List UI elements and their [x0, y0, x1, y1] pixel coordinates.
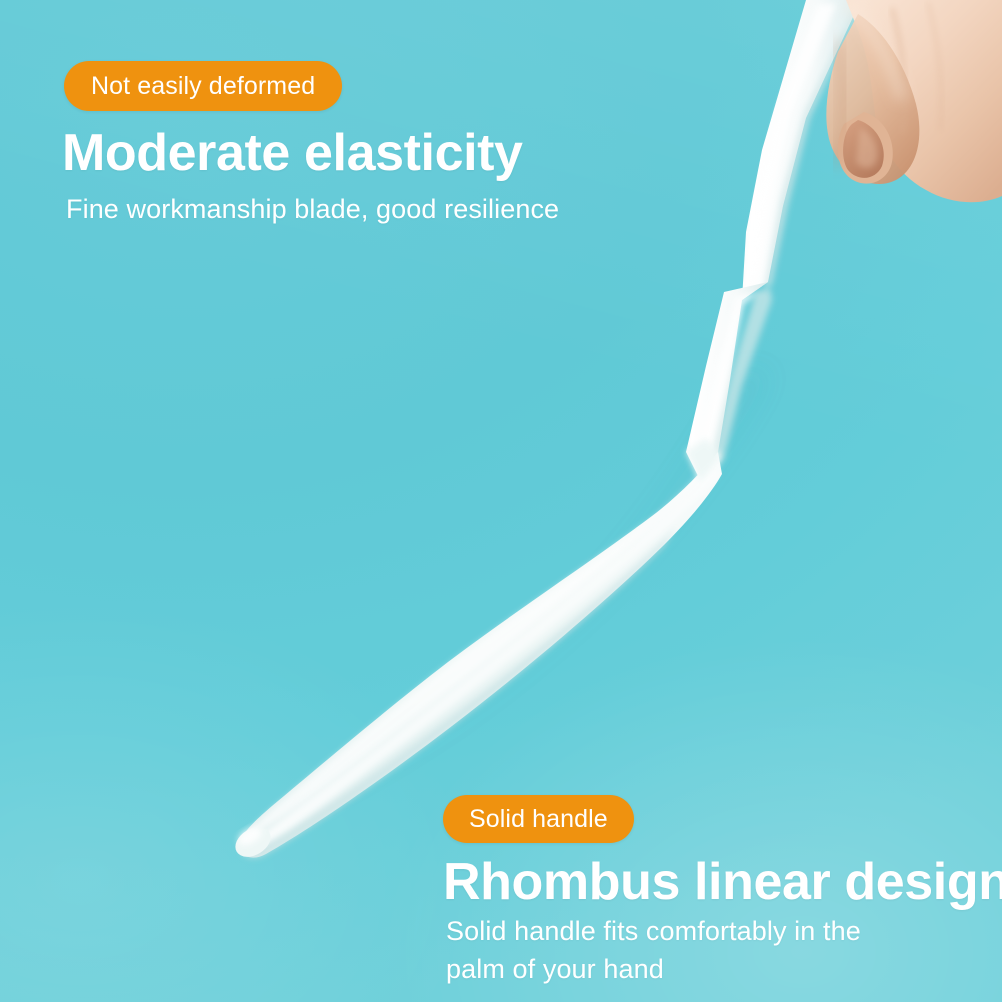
headline-rhombus-linear-design: Rhombus linear design: [443, 855, 1002, 910]
headline-moderate-elasticity: Moderate elasticity: [62, 126, 523, 181]
subline-bottom-line2: palm of your hand: [446, 950, 946, 988]
badge-not-easily-deformed: Not easily deformed: [64, 61, 342, 111]
hand-holding-tool: [826, 0, 1002, 202]
subline-bottom: Solid handle fits comfortably in the pal…: [446, 912, 946, 989]
badge-solid-handle: Solid handle: [443, 795, 634, 843]
product-banner: Not easily deformed Moderate elasticity …: [0, 0, 1002, 1002]
subline-top: Fine workmanship blade, good resilience: [66, 190, 559, 228]
subline-bottom-line1: Solid handle fits comfortably in the: [446, 916, 861, 946]
